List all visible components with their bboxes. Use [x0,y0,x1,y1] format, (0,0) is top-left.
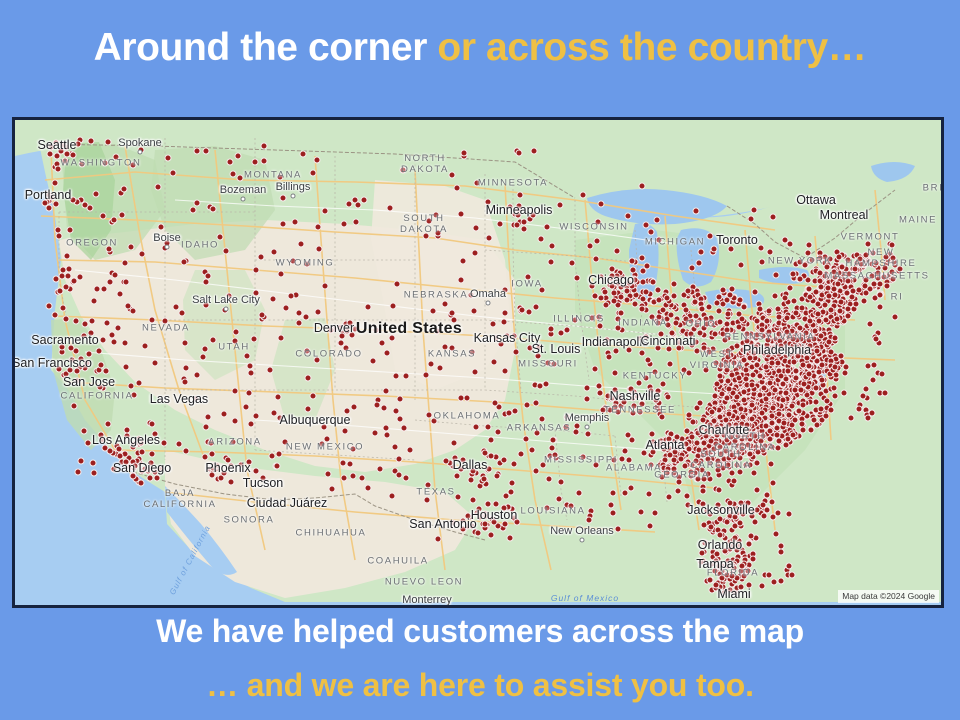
page-title: Around the corner or across the country… [0,24,960,72]
map-attribution: Map data ©2024 Google [838,590,939,603]
map-container[interactable]: WASHINGTONOREGONIDAHOMONTANAWYOMINGNORTH… [12,117,944,608]
map-canvas[interactable]: WASHINGTONOREGONIDAHOMONTANAWYOMINGNORTH… [15,120,941,605]
headline-white-part: Around the corner [94,26,427,69]
headline-gold-part: or across the country… [427,26,866,69]
caption-secondary: … and we are here to assist you too. [0,667,960,704]
caption-primary: We have helped customers across the map [0,613,960,650]
map-basemap [15,120,941,605]
slide-root: Around the corner or across the country… [0,0,960,720]
